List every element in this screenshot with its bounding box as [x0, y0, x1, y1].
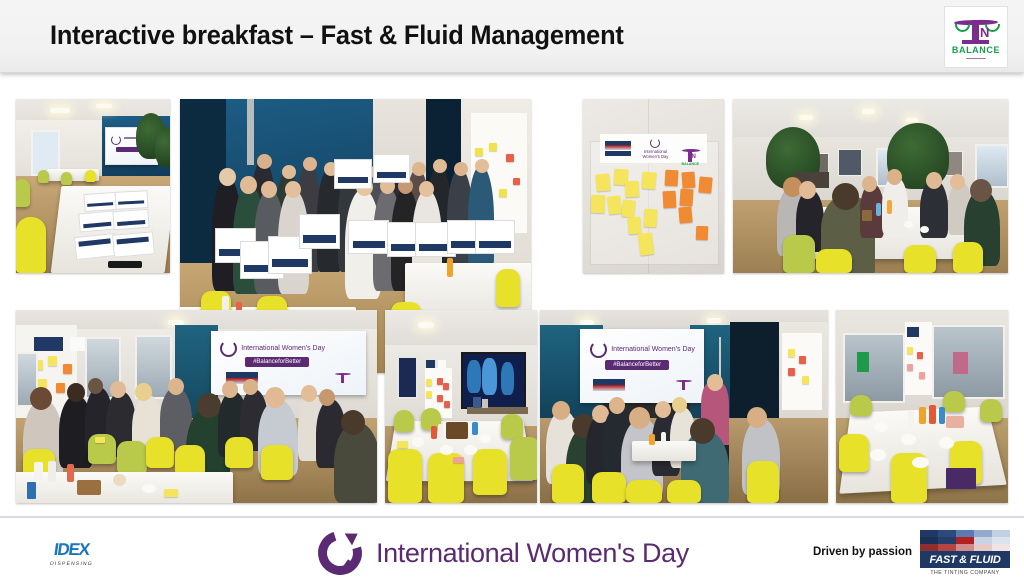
color-swatch — [920, 537, 938, 544]
color-swatch — [920, 530, 938, 537]
color-swatch — [974, 544, 992, 551]
idex-wordmark: IDEX — [49, 540, 95, 560]
mini-tin-balance-logo — [335, 371, 351, 385]
color-swatch — [956, 544, 974, 551]
photo-audience-watching-presentation: International Women's Day #BalanceforBet… — [16, 310, 377, 503]
fast-fluid-tagline: THE TINTING COMPANY — [920, 570, 1010, 576]
iwd-ring-icon — [220, 340, 237, 357]
iwd-circle-arrow-icon — [318, 531, 362, 575]
color-swatch — [974, 537, 992, 544]
idex-subtitle: DISPENSING — [50, 561, 94, 567]
projection-heading: International Women's Day — [611, 346, 695, 353]
color-swatch — [920, 544, 938, 551]
slide-root: Interactive breakfast – Fast & Fluid Man… — [0, 0, 1024, 584]
mini-tin-balance-logo — [676, 378, 692, 392]
slide-footer: IDEX DISPENSING International Women's Da… — [0, 516, 1024, 584]
photo-flipchart-with-sticky-notes: InternationalWomen's Day N BALANCE — [583, 99, 724, 273]
photo-grid: InternationalWomen's Day N BALANCE — [0, 72, 1024, 512]
photo-breakfast-table-by-windows — [836, 310, 1008, 503]
iwd-wordmark: International Women's Day — [376, 538, 689, 569]
fast-fluid-wordmark: FAST & FLUID — [920, 551, 1010, 568]
projection-hashtag: #BalanceforBetter — [605, 360, 669, 370]
color-swatch — [992, 537, 1010, 544]
slide-header: Interactive breakfast – Fast & Fluid Man… — [0, 0, 1024, 73]
driven-by-passion-tagline: Driven by passion — [813, 546, 912, 558]
photo-roundtable-discussion — [733, 99, 1008, 273]
balance-scale-icon: N — [951, 14, 1001, 44]
iwd-ring-icon — [590, 341, 607, 358]
projection-heading: International Women's Day — [241, 345, 325, 352]
mini-fast-fluid-logo — [593, 379, 625, 391]
idex-logo: IDEX DISPENSING — [50, 540, 93, 567]
tin-balance-logo: N BALANCE ▬▬▬▬▬▬▬ — [944, 6, 1008, 68]
fast-fluid-name: FAST & FLUID — [930, 554, 1001, 566]
color-swatch — [956, 530, 974, 537]
color-swatch — [956, 537, 974, 544]
tin-logo-word: BALANCE — [952, 45, 1000, 55]
color-swatch — [938, 530, 956, 537]
international-womens-day-logo: International Women's Day — [318, 531, 689, 575]
photo-room-setup-with-handouts — [16, 99, 170, 273]
color-swatch — [938, 537, 956, 544]
projection-hashtag: #BalanceforBetter — [245, 357, 309, 367]
tin-logo-subline: ▬▬▬▬▬▬▬ — [966, 57, 986, 61]
tin-logo-letter-n: N — [980, 26, 989, 39]
color-swatch — [992, 530, 1010, 537]
color-swatch — [992, 544, 1010, 551]
fast-fluid-color-swatches — [920, 530, 1010, 551]
photo-breakfast-table-artwork — [385, 310, 537, 503]
photo-speaker-presenting: International Women's Day #BalanceforBet… — [540, 310, 828, 503]
fast-fluid-logo: FAST & FLUID THE TINTING COMPANY — [920, 530, 1010, 576]
page-title: Interactive breakfast – Fast & Fluid Man… — [50, 20, 624, 51]
color-swatch — [974, 530, 992, 537]
color-swatch — [938, 544, 956, 551]
